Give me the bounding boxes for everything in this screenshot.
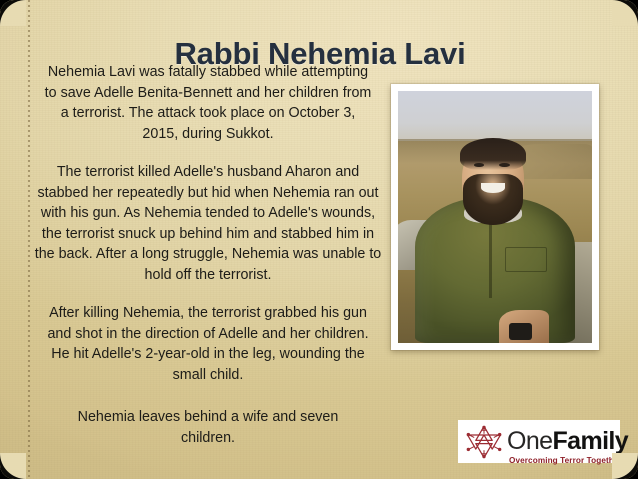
photo-held-object — [509, 323, 532, 341]
paragraph-2: The terrorist killed Adelle's husband Ah… — [34, 162, 382, 285]
photo-eye-right — [499, 163, 510, 167]
star-of-david-figures-icon — [464, 424, 504, 460]
onefamily-wordmark: OneFamily Overcoming Terror Together — [507, 429, 628, 454]
slide-corner-top-left — [0, 0, 26, 26]
body-text-column: Nehemia Lavi was fatally stabbed while a… — [34, 62, 382, 448]
paragraph-3: After killing Nehemia, the terrorist gra… — [34, 303, 382, 385]
photo-smile — [481, 183, 504, 193]
dotted-left-rail — [28, 0, 30, 479]
slide-corner-bottom-left — [0, 453, 26, 479]
photo-beard — [463, 174, 523, 224]
photo-jacket-placket — [489, 222, 492, 298]
logo-word-one: One — [507, 427, 552, 455]
paragraph-4: Nehemia leaves behind a wife and seven c… — [34, 407, 382, 448]
logo-word-family: Family — [552, 427, 628, 455]
photo-hair — [460, 138, 526, 171]
onefamily-logo: OneFamily Overcoming Terror Together — [458, 420, 620, 463]
portrait-photo-frame — [391, 84, 599, 350]
photo-jacket-pocket — [505, 247, 548, 272]
portrait-photo — [398, 91, 592, 343]
logo-tagline: Overcoming Terror Together — [509, 457, 622, 465]
paragraph-1: Nehemia Lavi was fatally stabbed while a… — [34, 62, 382, 144]
presentation-slide: Rabbi Nehemia Lavi Nehemia Lavi was fata… — [0, 0, 638, 479]
slide-corner-top-right — [612, 0, 638, 26]
photo-eye-left — [474, 163, 485, 167]
